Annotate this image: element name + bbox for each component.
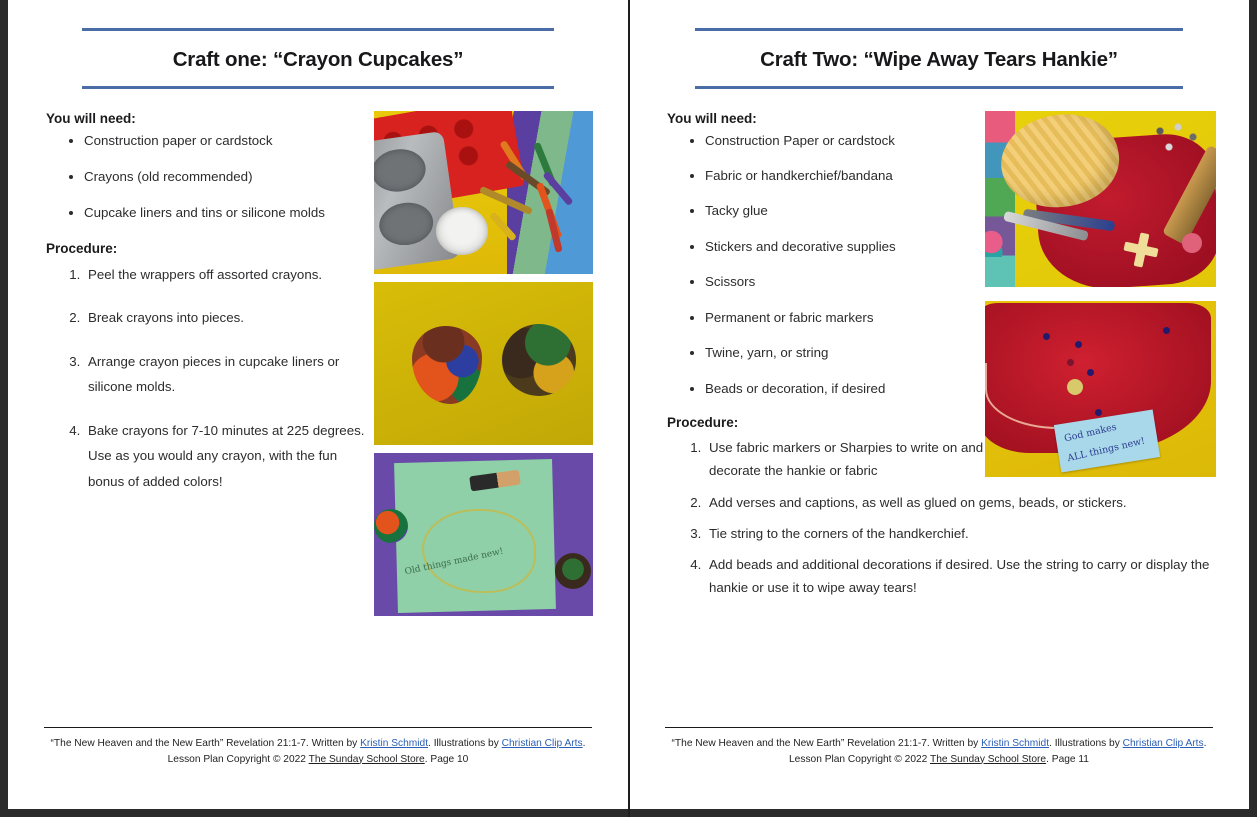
footer-part-2: . Illustrations by (1049, 738, 1123, 749)
footer-right: “The New Heaven and the New Earth” Revel… (665, 727, 1213, 767)
footer-divider-right (665, 727, 1213, 728)
bead (1043, 333, 1050, 340)
melted-crayon-left (374, 509, 408, 543)
bead (1075, 341, 1082, 348)
footer-link-author[interactable]: Kristin Schmidt (981, 738, 1049, 749)
photo-hankie-supplies (985, 111, 1216, 287)
title-rule-bottom-right (695, 86, 1183, 89)
page-left: Craft one: “Crayon Cupcakes” (8, 0, 628, 809)
list-item: Tacky glue (705, 202, 995, 220)
heart-sticker (1182, 233, 1202, 253)
scissors-icon (985, 227, 1025, 257)
photo-finished-hankie: God makes ALL things new! (985, 301, 1216, 477)
list-item: Crayons (old recommended) (84, 168, 374, 186)
footer-text-right: “The New Heaven and the New Earth” Revel… (665, 736, 1213, 767)
footer-part-4: . Page 10 (425, 754, 469, 765)
melted-crayon-shape-figure (412, 326, 482, 404)
footer-part-1: “The New Heaven and the New Earth” Revel… (51, 738, 361, 749)
footer-part-4: . Page 11 (1046, 754, 1089, 765)
list-item: Scissors (705, 273, 995, 291)
footer-link-illustrations[interactable]: Christian Clip Arts (1123, 738, 1204, 749)
list-item: Bake crayons for 7-10 minutes at 225 deg… (84, 418, 374, 495)
body-area-left: Old things made new! You will need: Cons… (44, 111, 592, 495)
list-item: Add verses and captions, as well as glue… (705, 491, 1249, 514)
materials-list-right: Construction Paper or cardstock Fabric o… (665, 132, 995, 398)
materials-label-right: You will need: (667, 111, 995, 126)
list-item: Break crayons into pieces. (84, 305, 374, 331)
page-right: Craft Two: “Wipe Away Tears Hankie” (629, 0, 1249, 809)
list-item: Use fabric markers or Sharpies to write … (705, 436, 1009, 483)
cupcake-liner (436, 207, 488, 255)
procedure-label-left: Procedure: (46, 241, 374, 256)
footer-link-illustrations[interactable]: Christian Clip Arts (502, 738, 583, 749)
list-item: Construction paper or cardstock (84, 132, 374, 150)
list-item: Twine, yarn, or string (705, 344, 995, 362)
title-rule-bottom-left (82, 86, 554, 89)
photo-crayon-supplies (374, 111, 593, 274)
footer-link-author[interactable]: Kristin Schmidt (360, 738, 428, 749)
footer-divider-left (44, 727, 592, 728)
photo-melted-crayons (374, 282, 593, 445)
page-title-right: Craft Two: “Wipe Away Tears Hankie” (665, 31, 1213, 86)
footer-part-1: “The New Heaven and the New Earth” Revel… (672, 738, 982, 749)
cross-sticker (1124, 233, 1158, 267)
procedure-label-right: Procedure: (667, 415, 995, 430)
list-item: Cupcake liners and tins or silicone mold… (84, 204, 374, 222)
list-item: Tie string to the corners of the handker… (705, 522, 1249, 545)
materials-label-left: You will need: (46, 111, 374, 126)
footer-left: “The New Heaven and the New Earth” Revel… (44, 727, 592, 767)
list-item: Fabric or handkerchief/bandana (705, 167, 995, 185)
gem-stickers (1148, 119, 1208, 159)
footer-part-2: . Illustrations by (428, 738, 502, 749)
list-item: Arrange crayon pieces in cupcake liners … (84, 349, 374, 400)
footer-text-left: “The New Heaven and the New Earth” Revel… (44, 736, 592, 767)
title-block-right: Craft Two: “Wipe Away Tears Hankie” (665, 0, 1213, 89)
photo-crayon-drawing: Old things made new! (374, 453, 593, 616)
footer-link-store[interactable]: The Sunday School Store (309, 754, 425, 765)
materials-list-left: Construction paper or cardstock Crayons … (44, 132, 374, 223)
photo-column-right: God makes ALL things new! (985, 111, 1216, 491)
text-column-right: You will need: Construction Paper or car… (665, 111, 995, 600)
body-area-right: God makes ALL things new! You will need:… (665, 111, 1213, 600)
list-item: Beads or decoration, if desired (705, 380, 995, 398)
list-item: Peel the wrappers off assorted crayons. (84, 262, 374, 288)
document-spread: Craft one: “Crayon Cupcakes” (0, 0, 1257, 817)
list-item: Stickers and decorative supplies (705, 238, 995, 256)
list-item: Add beads and additional decorations if … (705, 553, 1249, 600)
procedure-list-left: Peel the wrappers off assorted crayons. … (44, 262, 374, 495)
photo-column-left: Old things made new! (374, 111, 593, 624)
title-block-left: Craft one: “Crayon Cupcakes” (44, 0, 592, 89)
text-column-left: You will need: Construction paper or car… (44, 111, 374, 495)
list-item: Permanent or fabric markers (705, 309, 995, 327)
page-gutter-divider (628, 0, 630, 817)
melted-crayon-shape-round (502, 324, 576, 396)
page-title-left: Craft one: “Crayon Cupcakes” (44, 31, 592, 86)
melted-crayon-right (555, 553, 591, 589)
list-item: Construction Paper or cardstock (705, 132, 995, 150)
bead (1163, 327, 1170, 334)
footer-link-store[interactable]: The Sunday School Store (930, 754, 1046, 765)
